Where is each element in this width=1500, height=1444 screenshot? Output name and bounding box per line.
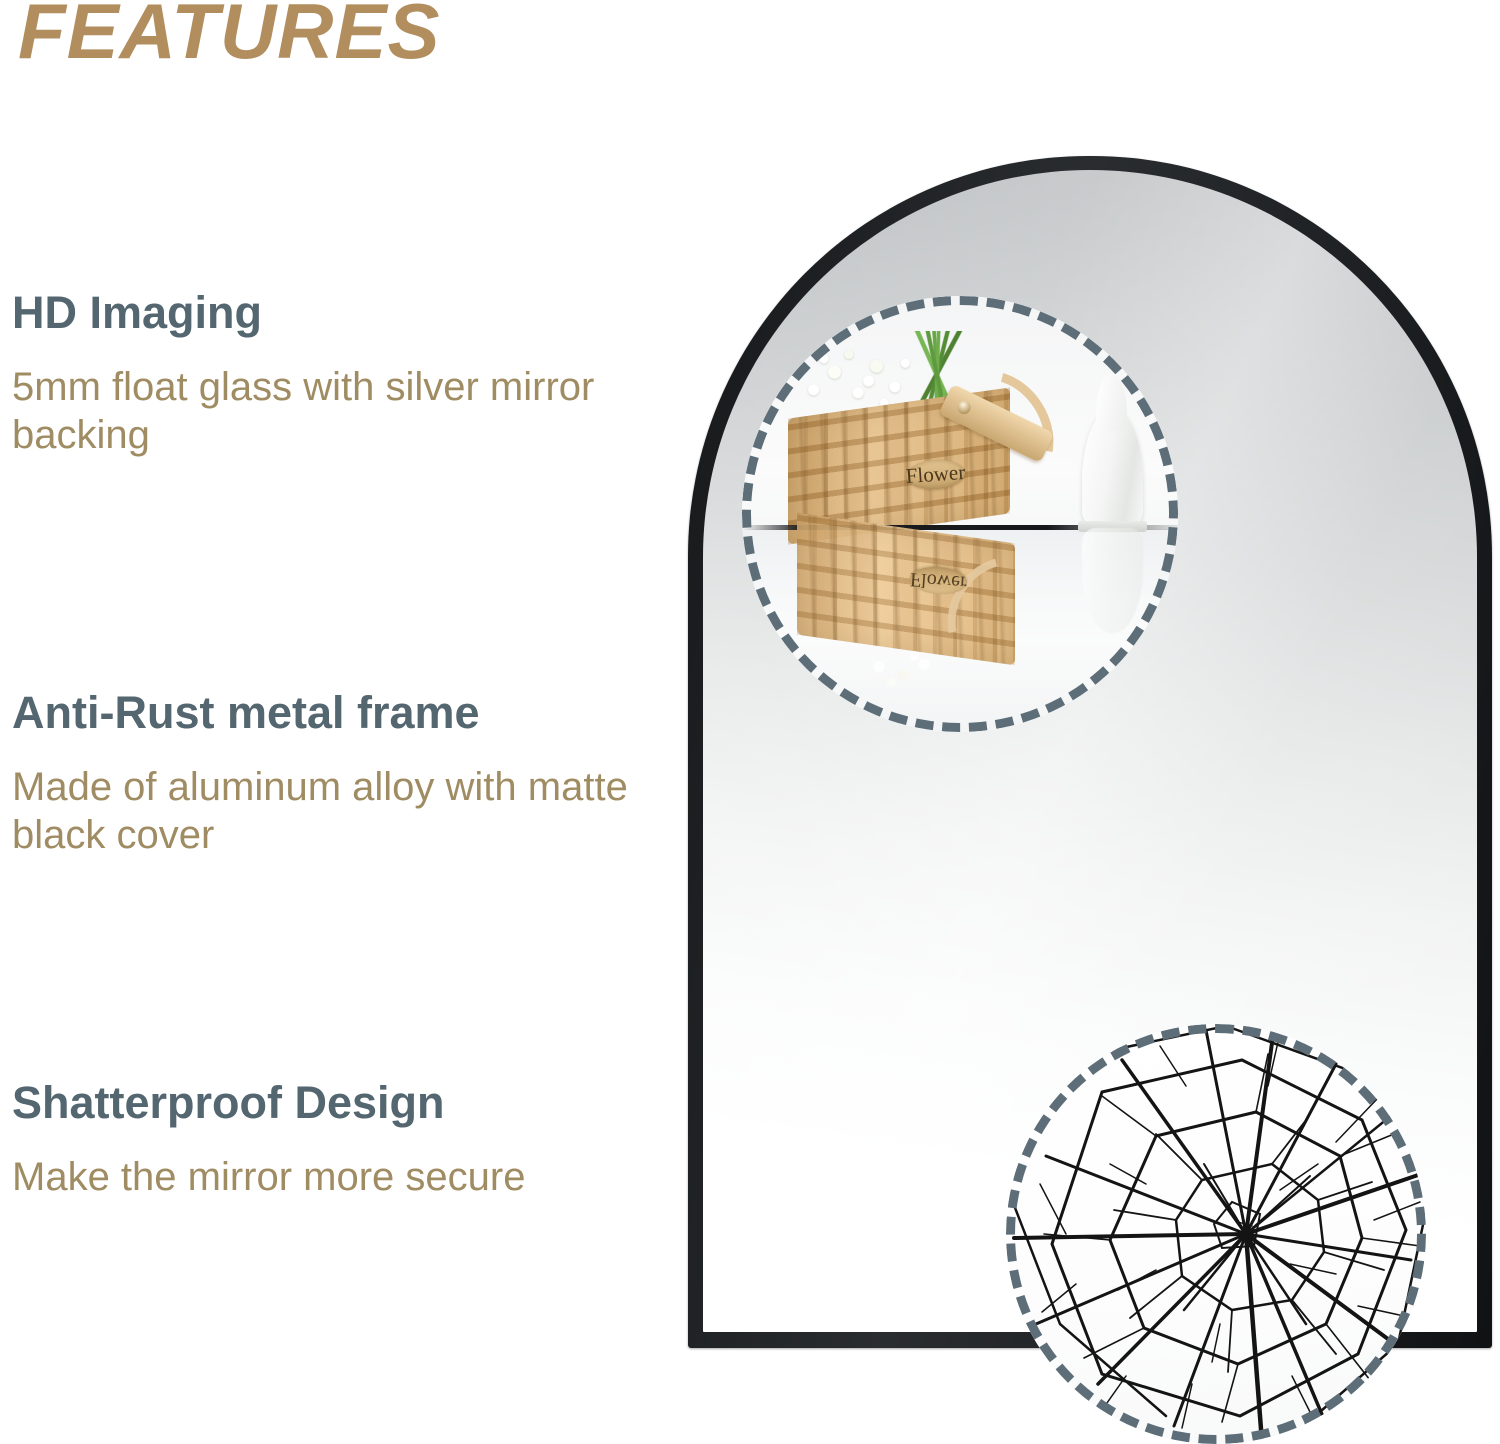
callout-scene-clip: Flower Flower: [742, 296, 1178, 732]
callout-shatterproof-closeup: [1006, 1024, 1426, 1444]
feature-block-hd-imaging: HD Imaging 5mm float glass with silver m…: [12, 288, 672, 459]
feature-description: 5mm float glass with silver mirror backi…: [12, 364, 672, 458]
flower-tag: Flower: [905, 457, 966, 490]
vase-neck: [1096, 374, 1128, 431]
callout-scene-clip: [1006, 1024, 1426, 1444]
feature-heading: Anti-Rust metal frame: [12, 688, 672, 738]
feature-description: Made of aluminum alloy with matte black …: [12, 764, 672, 858]
shattered-glass-scene: [1006, 1024, 1426, 1444]
callout-hd-imaging-closeup: Flower Flower: [742, 296, 1178, 732]
shattered-glass-crack-pattern: [1006, 1024, 1426, 1444]
basket-scene: Flower Flower: [742, 296, 1178, 732]
feature-heading: Shatterproof Design: [12, 1078, 672, 1128]
feature-block-anti-rust-frame: Anti-Rust metal frame Made of aluminum a…: [12, 688, 672, 859]
page-title: FEATURES: [18, 0, 441, 70]
feature-heading: HD Imaging: [12, 288, 672, 338]
strap-rivet: [956, 399, 973, 416]
flowers-reflection: [855, 645, 951, 693]
feature-block-shatterproof-design: Shatterproof Design Make the mirror more…: [12, 1078, 672, 1202]
feature-description: Make the mirror more secure: [12, 1154, 672, 1201]
ceramic-vase: [1082, 409, 1143, 527]
